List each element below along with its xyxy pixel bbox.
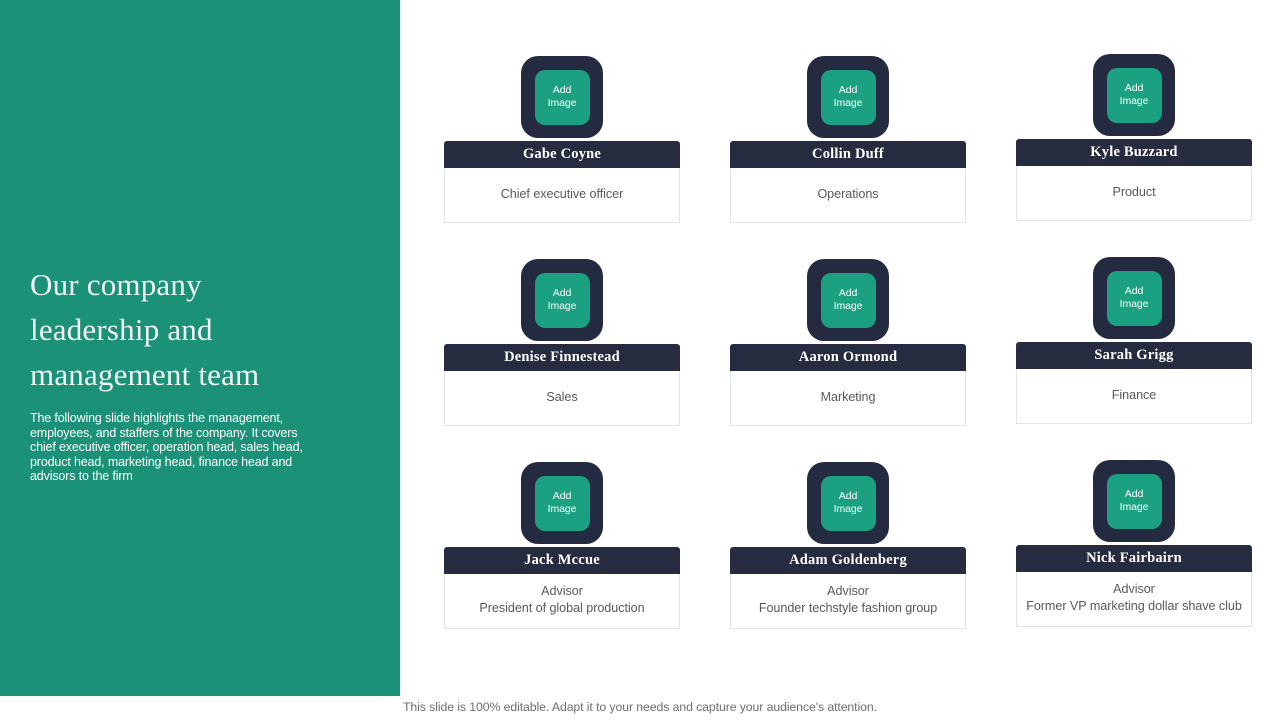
add-image-label-line1: Add	[553, 287, 571, 300]
team-member-grid: Add Image Gabe Coyne Chief executive off…	[444, 56, 1252, 629]
member-role-box: Advisor Former VP marketing dollar shave…	[1016, 572, 1252, 627]
team-member-card[interactable]: Add Image Nick Fairbairn Advisor Former …	[1016, 460, 1252, 629]
member-name: Nick Fairbairn	[1016, 545, 1252, 572]
add-image-label-line1: Add	[839, 84, 857, 97]
title-block: Our company leadership and management te…	[30, 262, 330, 484]
member-role: Marketing	[821, 389, 876, 406]
add-image-label-line2: Image	[1120, 501, 1149, 514]
grid-gap	[966, 259, 1016, 426]
editable-footer-note: This slide is 100% editable. Adapt it to…	[403, 700, 877, 714]
add-image-label-line2: Image	[834, 300, 863, 313]
add-image-label-line2: Image	[834, 503, 863, 516]
team-member-card[interactable]: Add Image Jack Mccue Advisor President o…	[444, 462, 680, 629]
team-member-card[interactable]: Add Image Aaron Ormond Marketing	[730, 259, 966, 426]
avatar[interactable]: Add Image	[730, 462, 966, 544]
add-image-label-line1: Add	[839, 490, 857, 503]
member-role: Chief executive officer	[501, 186, 624, 203]
add-image-label-line2: Image	[548, 300, 577, 313]
member-role: Advisor Founder techstyle fashion group	[759, 583, 937, 617]
add-image-label-line1: Add	[1125, 285, 1143, 298]
avatar-frame: Add Image	[521, 56, 603, 138]
member-name: Gabe Coyne	[444, 141, 680, 168]
add-image-placeholder[interactable]: Add Image	[821, 70, 876, 125]
team-member-card[interactable]: Add Image Denise Finnestead Sales	[444, 259, 680, 426]
add-image-label-line1: Add	[839, 287, 857, 300]
add-image-label-line2: Image	[548, 503, 577, 516]
add-image-label-line2: Image	[548, 97, 577, 110]
team-member-card[interactable]: Add Image Adam Goldenberg Advisor Founde…	[730, 462, 966, 629]
avatar[interactable]: Add Image	[730, 56, 966, 138]
member-role: Sales	[546, 389, 577, 406]
add-image-placeholder[interactable]: Add Image	[1107, 474, 1162, 529]
member-name: Kyle Buzzard	[1016, 139, 1252, 166]
avatar-frame: Add Image	[1093, 257, 1175, 339]
grid-gap	[680, 56, 730, 223]
add-image-placeholder[interactable]: Add Image	[535, 70, 590, 125]
member-role-box: Sales	[444, 371, 680, 426]
avatar-frame: Add Image	[807, 462, 889, 544]
add-image-label-line1: Add	[1125, 82, 1143, 95]
avatar[interactable]: Add Image	[1016, 257, 1252, 339]
member-role: Advisor President of global production	[479, 583, 644, 617]
member-name: Collin Duff	[730, 141, 966, 168]
member-name: Jack Mccue	[444, 547, 680, 574]
add-image-placeholder[interactable]: Add Image	[821, 476, 876, 531]
member-name: Sarah Grigg	[1016, 342, 1252, 369]
avatar-frame: Add Image	[1093, 460, 1175, 542]
grid-gap	[680, 462, 730, 629]
avatar-frame: Add Image	[521, 259, 603, 341]
team-member-card[interactable]: Add Image Collin Duff Operations	[730, 56, 966, 223]
avatar[interactable]: Add Image	[444, 259, 680, 341]
add-image-placeholder[interactable]: Add Image	[535, 273, 590, 328]
team-member-card[interactable]: Add Image Kyle Buzzard Product	[1016, 54, 1252, 223]
member-role-box: Advisor Founder techstyle fashion group	[730, 574, 966, 629]
avatar[interactable]: Add Image	[444, 56, 680, 138]
left-title-panel: Our company leadership and management te…	[0, 0, 400, 696]
avatar[interactable]: Add Image	[1016, 460, 1252, 542]
avatar-frame: Add Image	[521, 462, 603, 544]
avatar-frame: Add Image	[807, 259, 889, 341]
slide-root: Our company leadership and management te…	[0, 0, 1280, 720]
member-role-box: Finance	[1016, 369, 1252, 424]
add-image-label-line2: Image	[1120, 95, 1149, 108]
add-image-label-line2: Image	[834, 97, 863, 110]
add-image-placeholder[interactable]: Add Image	[1107, 271, 1162, 326]
avatar-frame: Add Image	[807, 56, 889, 138]
member-role: Finance	[1112, 387, 1156, 404]
page-subtitle: The following slide highlights the manag…	[30, 411, 312, 484]
member-role: Product	[1112, 184, 1155, 201]
add-image-label-line1: Add	[553, 490, 571, 503]
avatar[interactable]: Add Image	[730, 259, 966, 341]
member-role: Operations	[817, 186, 878, 203]
member-name: Aaron Ormond	[730, 344, 966, 371]
member-role-box: Marketing	[730, 371, 966, 426]
grid-gap	[966, 56, 1016, 223]
member-role-box: Operations	[730, 168, 966, 223]
panel-divider	[400, 0, 416, 700]
avatar[interactable]: Add Image	[444, 462, 680, 544]
grid-gap	[966, 462, 1016, 629]
grid-gap	[680, 259, 730, 426]
member-role-box: Advisor President of global production	[444, 574, 680, 629]
member-name: Adam Goldenberg	[730, 547, 966, 574]
add-image-label-line1: Add	[1125, 488, 1143, 501]
add-image-placeholder[interactable]: Add Image	[535, 476, 590, 531]
page-title: Our company leadership and management te…	[30, 262, 330, 397]
member-role-box: Chief executive officer	[444, 168, 680, 223]
add-image-placeholder[interactable]: Add Image	[1107, 68, 1162, 123]
add-image-label-line2: Image	[1120, 298, 1149, 311]
team-member-card[interactable]: Add Image Gabe Coyne Chief executive off…	[444, 56, 680, 223]
member-name: Denise Finnestead	[444, 344, 680, 371]
member-role-box: Product	[1016, 166, 1252, 221]
avatar-frame: Add Image	[1093, 54, 1175, 136]
add-image-placeholder[interactable]: Add Image	[821, 273, 876, 328]
avatar[interactable]: Add Image	[1016, 54, 1252, 136]
member-role: Advisor Former VP marketing dollar shave…	[1026, 581, 1242, 615]
team-member-card[interactable]: Add Image Sarah Grigg Finance	[1016, 257, 1252, 426]
add-image-label-line1: Add	[553, 84, 571, 97]
